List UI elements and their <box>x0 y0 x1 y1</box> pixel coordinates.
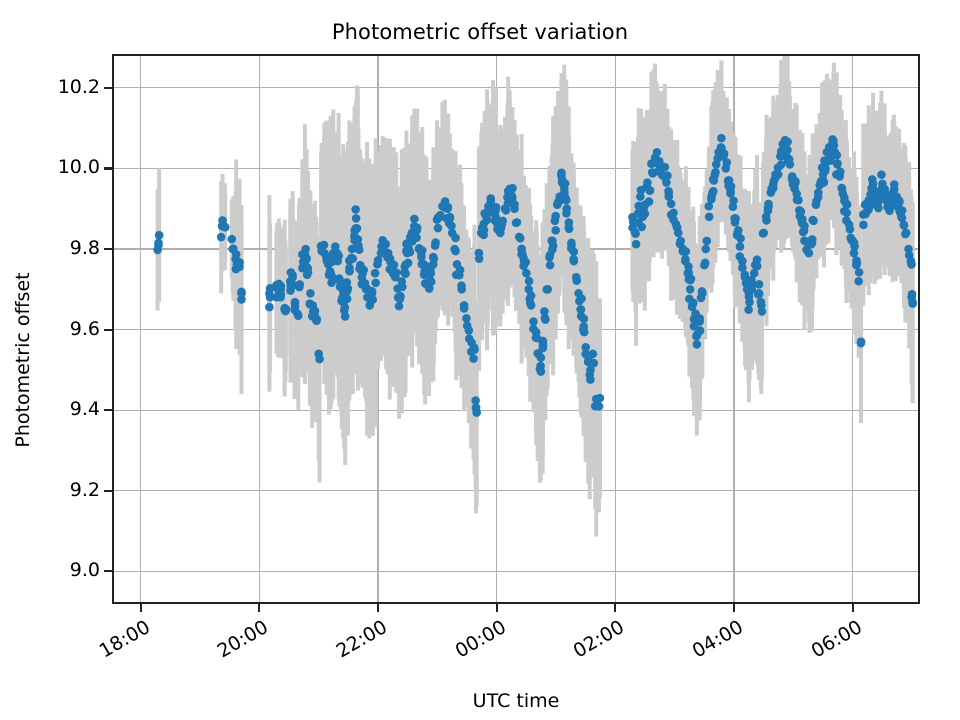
data-point <box>857 339 866 348</box>
data-point <box>551 226 560 235</box>
data-point <box>877 170 886 179</box>
x-tick-mark <box>852 604 854 612</box>
data-point <box>418 246 427 255</box>
data-point <box>755 280 764 289</box>
data-point <box>472 403 481 412</box>
data-point <box>783 138 792 147</box>
data-point <box>306 289 315 298</box>
data-point <box>564 223 573 232</box>
data-point <box>901 229 910 238</box>
data-point <box>595 402 604 411</box>
x-tick-label: 02:00 <box>562 616 628 667</box>
data-point <box>469 354 478 363</box>
data-point <box>232 250 241 259</box>
data-point <box>404 259 413 268</box>
data-point <box>551 212 560 221</box>
chart-title: Photometric offset variation <box>0 20 960 44</box>
data-point <box>451 247 460 256</box>
data-point <box>406 248 415 257</box>
data-point <box>637 223 646 232</box>
y-tick-label: 10.2 <box>58 76 100 98</box>
data-point <box>705 212 714 221</box>
data-point <box>486 194 495 203</box>
data-point <box>586 375 595 384</box>
data-point <box>303 271 312 280</box>
data-point <box>794 196 803 205</box>
x-axis-label: UTC time <box>112 690 920 712</box>
data-point <box>462 314 471 323</box>
data-point <box>589 349 598 358</box>
y-tick-mark <box>104 329 112 331</box>
data-point <box>465 326 474 335</box>
data-point <box>561 179 570 188</box>
data-point <box>540 307 549 316</box>
data-point <box>596 394 605 403</box>
data-point <box>895 198 904 207</box>
data-point <box>373 260 382 269</box>
data-point <box>237 288 246 297</box>
data-point <box>808 216 817 225</box>
data-point <box>434 224 443 233</box>
data-point <box>854 277 863 286</box>
data-point <box>280 304 289 313</box>
data-point <box>525 277 534 286</box>
data-point <box>645 197 654 206</box>
data-point <box>719 151 728 160</box>
data-point <box>371 279 380 288</box>
data-point <box>908 298 917 307</box>
data-point <box>397 277 406 286</box>
data-point <box>696 326 705 335</box>
data-point <box>342 278 351 287</box>
data-point <box>392 268 401 277</box>
data-point <box>451 234 460 243</box>
data-point <box>800 222 809 231</box>
data-point <box>516 234 525 243</box>
x-tick-mark <box>377 604 379 612</box>
data-point <box>758 307 767 316</box>
x-tick-label: 04:00 <box>681 616 747 667</box>
data-point <box>900 221 909 230</box>
data-point <box>526 299 535 308</box>
data-point <box>689 299 698 308</box>
data-point <box>896 209 905 218</box>
data-point <box>521 258 530 267</box>
data-point <box>410 215 419 224</box>
data-point <box>681 255 690 264</box>
data-point <box>830 141 839 150</box>
data-point <box>846 225 855 234</box>
data-point <box>855 268 864 277</box>
data-point <box>542 285 551 294</box>
data-point <box>315 355 324 364</box>
data-point <box>498 220 507 229</box>
data-point <box>755 290 764 299</box>
data-point <box>351 205 360 214</box>
data-point <box>569 255 578 264</box>
data-point <box>460 304 469 313</box>
data-point <box>734 226 743 235</box>
y-tick-label: 9.4 <box>70 398 100 420</box>
data-point <box>701 245 710 254</box>
data-point <box>277 282 286 291</box>
data-point <box>673 223 682 232</box>
data-point <box>661 163 670 172</box>
data-point <box>312 316 321 325</box>
data-point <box>632 240 641 249</box>
data-point <box>221 223 230 232</box>
y-tick-mark <box>104 490 112 492</box>
y-tick-mark <box>104 570 112 572</box>
data-point <box>470 345 479 354</box>
data-point <box>759 229 768 238</box>
data-point <box>294 311 303 320</box>
data-point <box>265 303 274 312</box>
data-point <box>538 344 547 353</box>
data-point <box>580 314 589 323</box>
data-point <box>537 353 546 362</box>
data-point <box>368 295 377 304</box>
data-point <box>492 203 501 212</box>
data-point <box>791 179 800 188</box>
data-point <box>431 241 440 250</box>
data-point <box>570 247 579 256</box>
data-point <box>833 159 842 168</box>
y-tick-mark <box>104 248 112 250</box>
data-point <box>227 235 236 244</box>
data-point <box>805 249 814 258</box>
data-point <box>235 263 244 272</box>
data-point <box>456 266 465 275</box>
data-point <box>579 322 588 331</box>
data-point <box>546 261 555 270</box>
data-point <box>663 171 672 180</box>
data-point <box>836 167 845 176</box>
y-tick-mark <box>104 167 112 169</box>
data-point <box>588 359 597 368</box>
data-point <box>577 294 586 303</box>
data-point <box>332 255 341 264</box>
data-point <box>479 230 488 239</box>
data-point <box>567 239 576 248</box>
data-point <box>814 193 823 202</box>
x-tick-label: 22:00 <box>325 616 391 667</box>
data-point <box>395 302 404 311</box>
y-tick-label: 9.8 <box>70 237 100 259</box>
y-tick-label: 9.0 <box>70 559 100 581</box>
data-point <box>869 179 878 188</box>
data-point <box>457 281 466 290</box>
data-point <box>345 264 354 273</box>
data-point <box>155 231 164 240</box>
data-point <box>343 295 352 304</box>
x-tick-label: 00:00 <box>443 616 509 667</box>
data-point <box>576 305 585 314</box>
data-point <box>371 269 380 278</box>
data-point <box>667 200 676 209</box>
data-point <box>764 206 773 215</box>
data-point <box>352 214 361 223</box>
data-point <box>512 219 521 228</box>
data-point <box>736 234 745 243</box>
data-point <box>762 216 771 225</box>
data-point <box>686 276 695 285</box>
data-point <box>529 317 538 326</box>
data-point <box>302 254 311 263</box>
data-point <box>717 134 726 143</box>
data-point <box>359 266 368 275</box>
data-point <box>429 260 438 269</box>
data-point <box>695 314 704 323</box>
data-point <box>475 254 484 263</box>
y-tick-mark <box>104 409 112 411</box>
x-tick-mark <box>258 604 260 612</box>
data-point <box>288 273 297 282</box>
figure: Photometric offset variation Photometric… <box>0 0 960 720</box>
x-tick-mark <box>140 604 142 612</box>
data-point <box>698 287 707 296</box>
data-point <box>217 233 226 242</box>
data-point <box>850 239 859 248</box>
data-point <box>352 224 361 233</box>
data-point <box>354 235 363 244</box>
data-point <box>843 200 852 209</box>
data-point <box>653 148 662 157</box>
data-point <box>381 240 390 249</box>
plot-area <box>112 54 920 604</box>
data-point <box>522 269 531 278</box>
data-point <box>701 259 710 268</box>
data-point <box>538 337 547 346</box>
data-point <box>444 203 453 212</box>
data-point <box>400 268 409 277</box>
data-point <box>709 187 718 196</box>
data-point <box>907 260 916 269</box>
data-point <box>320 241 329 250</box>
x-tick-mark <box>733 604 735 612</box>
data-point <box>711 168 720 177</box>
data-point <box>774 170 783 179</box>
data-point <box>744 305 753 314</box>
data-point <box>686 285 695 294</box>
y-tick-label: 9.2 <box>70 479 100 501</box>
data-point <box>726 187 735 196</box>
data-point <box>368 287 377 296</box>
data-point <box>276 290 285 299</box>
data-point <box>736 242 745 251</box>
y-tick-label: 9.6 <box>70 318 100 340</box>
data-point <box>852 256 861 265</box>
data-point <box>729 196 738 205</box>
data-point <box>797 207 806 216</box>
data-point <box>347 254 356 263</box>
data-point <box>820 178 829 187</box>
data-point <box>396 292 405 301</box>
data-point <box>785 155 794 164</box>
y-tick-mark <box>104 87 112 89</box>
x-tick-label: 20:00 <box>206 616 272 667</box>
data-point <box>548 245 557 254</box>
data-point <box>880 185 889 194</box>
data-point <box>562 196 571 205</box>
data-point <box>833 151 842 160</box>
data-point <box>532 328 541 337</box>
data-point <box>413 226 422 235</box>
data-point <box>510 200 519 209</box>
data-point <box>572 276 581 285</box>
data-point <box>631 228 640 237</box>
x-tick-label: 06:00 <box>799 616 865 667</box>
x-tick-mark <box>614 604 616 612</box>
data-point <box>682 247 691 256</box>
data-point <box>874 204 883 213</box>
data-point <box>508 184 517 193</box>
data-point <box>859 221 868 230</box>
y-tick-label: 10.0 <box>58 156 100 178</box>
data-point <box>340 306 349 315</box>
data-point <box>562 209 571 218</box>
data-point <box>665 192 674 201</box>
data-point <box>412 233 421 242</box>
data-point <box>707 195 716 204</box>
data-point <box>808 235 817 244</box>
scatter-series <box>114 56 918 602</box>
data-point <box>821 166 830 175</box>
data-point <box>731 214 740 223</box>
data-point <box>447 222 456 231</box>
data-point <box>426 276 435 285</box>
data-point <box>154 241 163 250</box>
data-point <box>446 213 455 222</box>
data-point <box>646 186 655 195</box>
data-point <box>641 209 650 218</box>
x-tick-mark <box>496 604 498 612</box>
data-point <box>527 291 536 300</box>
data-point <box>702 237 711 246</box>
data-point <box>693 340 702 349</box>
data-point <box>295 283 304 292</box>
y-axis-tick-labels: 9.09.29.49.69.810.010.2 <box>0 0 100 720</box>
data-point <box>843 208 852 217</box>
data-point <box>722 158 731 167</box>
data-point <box>752 260 761 269</box>
data-point <box>757 298 766 307</box>
data-point <box>537 367 546 376</box>
